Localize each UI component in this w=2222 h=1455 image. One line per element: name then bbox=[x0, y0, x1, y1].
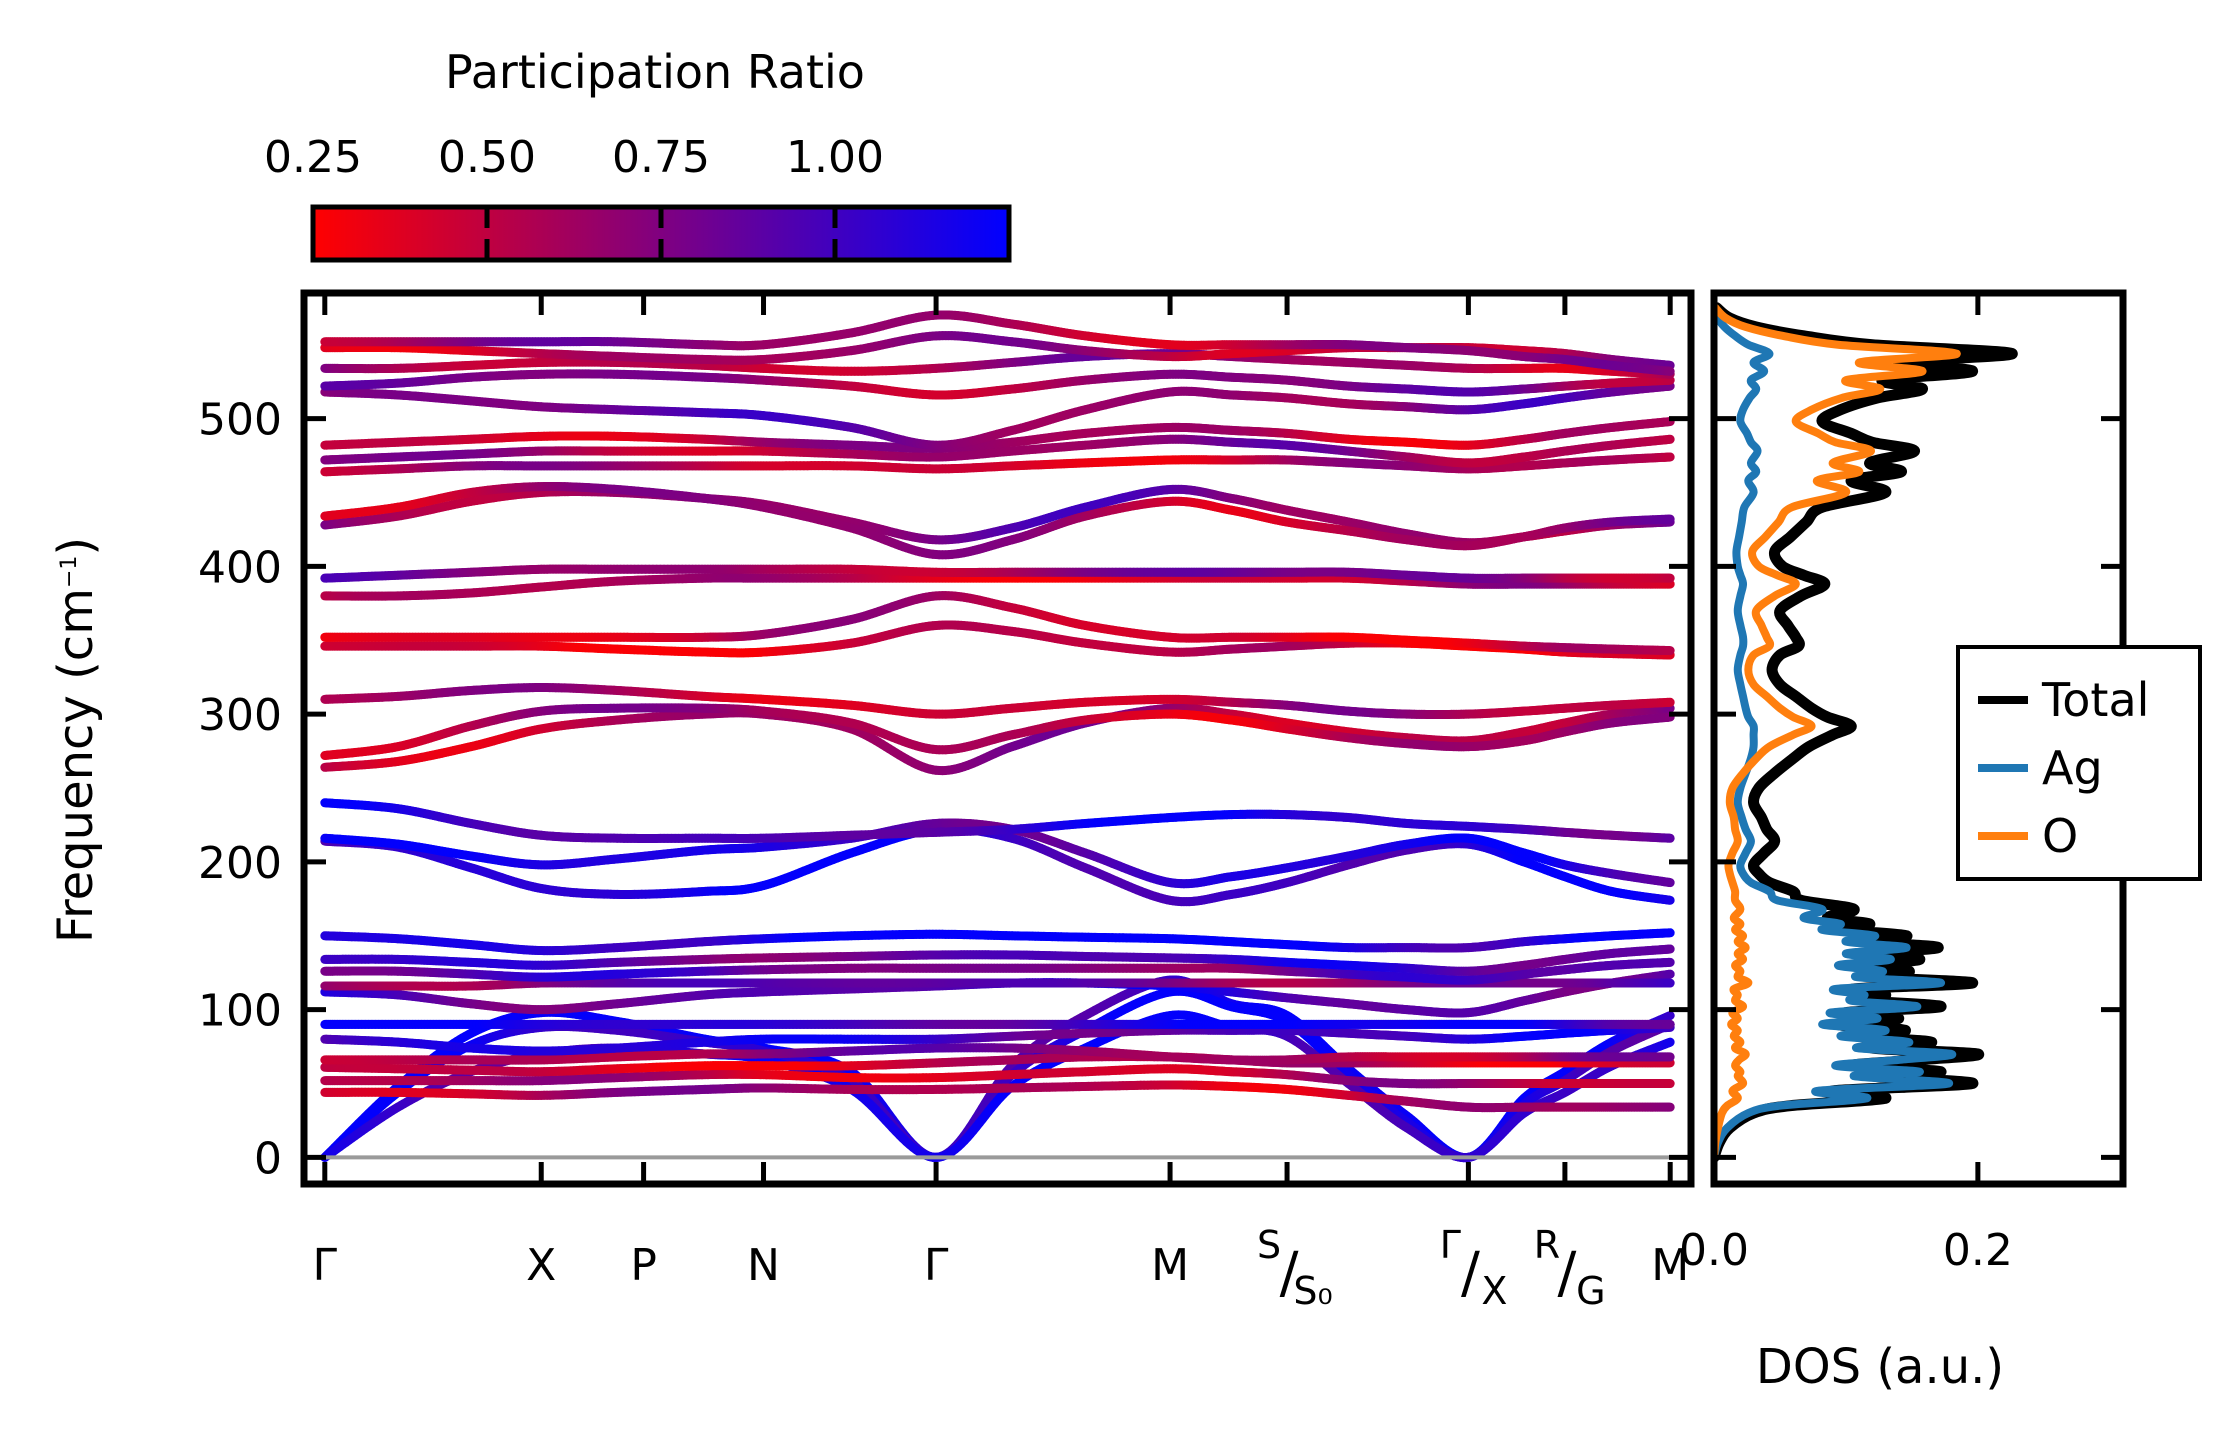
colorbar-title: Participation Ratio bbox=[445, 45, 865, 99]
y-axis-label: Frequency (cm−1) bbox=[48, 537, 104, 943]
colorbar-tick-3: 1.00 bbox=[786, 132, 884, 183]
colorbar-tick-0: 0.25 bbox=[264, 132, 362, 183]
y-axis-label-main: Frequency (cm bbox=[48, 588, 104, 943]
colorbar-tick-2: 0.75 bbox=[612, 132, 710, 183]
y-axis-label-group: Frequency (cm−1) bbox=[48, 537, 104, 943]
band-segment bbox=[1669, 1016, 1670, 1017]
y-axis-label-close: ) bbox=[48, 537, 104, 556]
colorbar-tick-1: 0.50 bbox=[438, 132, 536, 183]
figure-root: Participation Ratio 0.25 0.50 0.75 1.00 … bbox=[0, 0, 2222, 1455]
y-axis-label-superscript: −1 bbox=[57, 556, 82, 588]
band-segment bbox=[1669, 1042, 1670, 1043]
phonon-figure-svg: Participation Ratio 0.25 0.50 0.75 1.00 … bbox=[0, 0, 2222, 1455]
